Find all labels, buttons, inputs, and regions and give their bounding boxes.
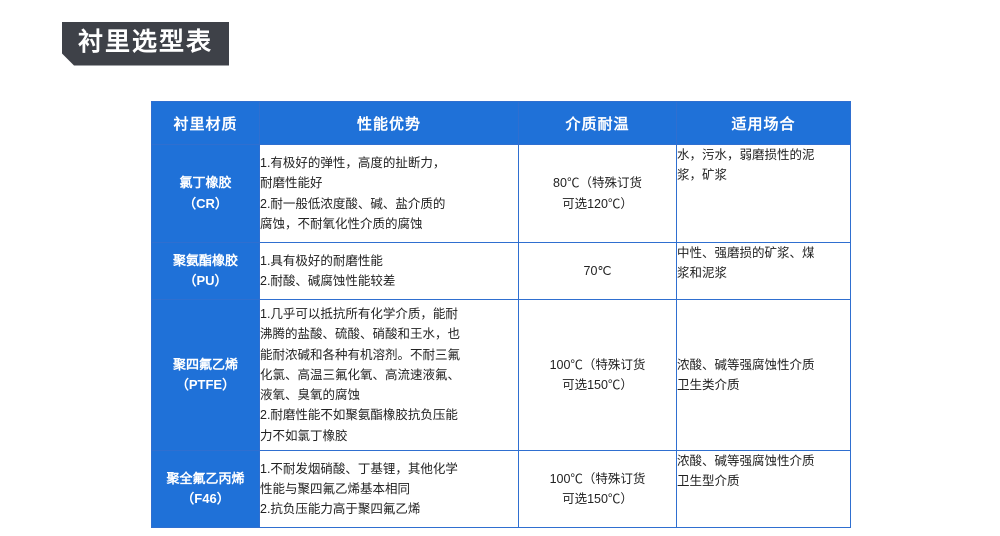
lining-selection-table-container: 衬里材质 性能优势 介质耐温 适用场合 氯丁橡胶 （CR） 1.有极好的弹性，高… — [151, 101, 850, 528]
material-code: （PTFE） — [152, 375, 259, 395]
material-code: （F46） — [152, 489, 259, 509]
table-row: 聚四氟乙烯 （PTFE） 1.几乎可以抵抗所有化学介质，能耐 沸腾的盐酸、硫酸、… — [152, 300, 851, 451]
cell-performance: 1.具有极好的耐磨性能 2.耐酸、碱腐蚀性能较差 — [260, 243, 519, 300]
performance-text: 1.具有极好的耐磨性能 2.耐酸、碱腐蚀性能较差 — [260, 251, 518, 292]
table-row: 聚全氟乙丙烯 （F46） 1.不耐发烟硝酸、丁基锂，其他化学 性能与聚四氟乙烯基… — [152, 451, 851, 528]
cell-usage: 水，污水，弱磨损性的泥 浆，矿浆 — [677, 145, 851, 243]
material-code: （PU） — [152, 271, 259, 291]
column-header-temperature: 介质耐温 — [519, 102, 677, 145]
column-header-usage: 适用场合 — [677, 102, 851, 145]
cell-temperature: 100℃（特殊订货 可选150℃） — [519, 300, 677, 451]
cell-usage: 中性、强磨损的矿浆、煤 浆和泥浆 — [677, 243, 851, 300]
cell-temperature: 100℃（特殊订货 可选150℃） — [519, 451, 677, 528]
column-header-performance: 性能优势 — [260, 102, 519, 145]
performance-text: 1.不耐发烟硝酸、丁基锂，其他化学 性能与聚四氟乙烯基本相同 2.抗负压能力高于… — [260, 459, 518, 520]
cell-performance: 1.几乎可以抵抗所有化学介质，能耐 沸腾的盐酸、硫酸、硝酸和王水，也 能耐浓碱和… — [260, 300, 519, 451]
cell-material: 聚四氟乙烯 （PTFE） — [152, 300, 260, 451]
cell-material: 氯丁橡胶 （CR） — [152, 145, 260, 243]
page-root: 衬里选型表 衬里材质 性能优势 介质耐温 适用场合 — [0, 0, 1000, 536]
usage-text: 浓酸、碱等强腐蚀性介质 卫生类介质 — [677, 355, 850, 396]
temperature-text: 70℃ — [519, 261, 676, 281]
table-row: 聚氨酯橡胶 （PU） 1.具有极好的耐磨性能 2.耐酸、碱腐蚀性能较差 70℃ … — [152, 243, 851, 300]
page-title: 衬里选型表 — [62, 22, 229, 66]
temperature-text: 100℃（特殊订货 可选150℃） — [519, 355, 676, 396]
temperature-text: 80℃（特殊订货 可选120℃） — [519, 173, 676, 214]
temperature-text: 100℃（特殊订货 可选150℃） — [519, 469, 676, 510]
performance-text: 1.有极好的弹性，高度的扯断力， 耐磨性能好 2.耐一般低浓度酸、碱、盐介质的 … — [260, 153, 518, 234]
cell-material: 聚氨酯橡胶 （PU） — [152, 243, 260, 300]
table-row: 氯丁橡胶 （CR） 1.有极好的弹性，高度的扯断力， 耐磨性能好 2.耐一般低浓… — [152, 145, 851, 243]
cell-performance: 1.有极好的弹性，高度的扯断力， 耐磨性能好 2.耐一般低浓度酸、碱、盐介质的 … — [260, 145, 519, 243]
cell-performance: 1.不耐发烟硝酸、丁基锂，其他化学 性能与聚四氟乙烯基本相同 2.抗负压能力高于… — [260, 451, 519, 528]
material-code: （CR） — [152, 194, 259, 214]
cell-usage: 浓酸、碱等强腐蚀性介质 卫生类介质 — [677, 300, 851, 451]
table-header-row: 衬里材质 性能优势 介质耐温 适用场合 — [152, 102, 851, 145]
performance-text: 1.几乎可以抵抗所有化学介质，能耐 沸腾的盐酸、硫酸、硝酸和王水，也 能耐浓碱和… — [260, 304, 518, 446]
cell-temperature: 80℃（特殊订货 可选120℃） — [519, 145, 677, 243]
cell-usage: 浓酸、碱等强腐蚀性介质 卫生型介质 — [677, 451, 851, 528]
usage-text: 水，污水，弱磨损性的泥 浆，矿浆 — [677, 145, 850, 186]
material-name: 氯丁橡胶 — [152, 173, 259, 193]
table-body: 氯丁橡胶 （CR） 1.有极好的弹性，高度的扯断力， 耐磨性能好 2.耐一般低浓… — [152, 145, 851, 528]
page-title-container: 衬里选型表 — [62, 22, 229, 66]
column-header-material: 衬里材质 — [152, 102, 260, 145]
usage-text: 浓酸、碱等强腐蚀性介质 卫生型介质 — [677, 451, 850, 492]
cell-material: 聚全氟乙丙烯 （F46） — [152, 451, 260, 528]
material-name: 聚四氟乙烯 — [152, 355, 259, 375]
table-header: 衬里材质 性能优势 介质耐温 适用场合 — [152, 102, 851, 145]
material-name: 聚全氟乙丙烯 — [152, 469, 259, 489]
material-name: 聚氨酯橡胶 — [152, 251, 259, 271]
lining-selection-table: 衬里材质 性能优势 介质耐温 适用场合 氯丁橡胶 （CR） 1.有极好的弹性，高… — [151, 101, 851, 528]
cell-temperature: 70℃ — [519, 243, 677, 300]
usage-text: 中性、强磨损的矿浆、煤 浆和泥浆 — [677, 243, 850, 284]
